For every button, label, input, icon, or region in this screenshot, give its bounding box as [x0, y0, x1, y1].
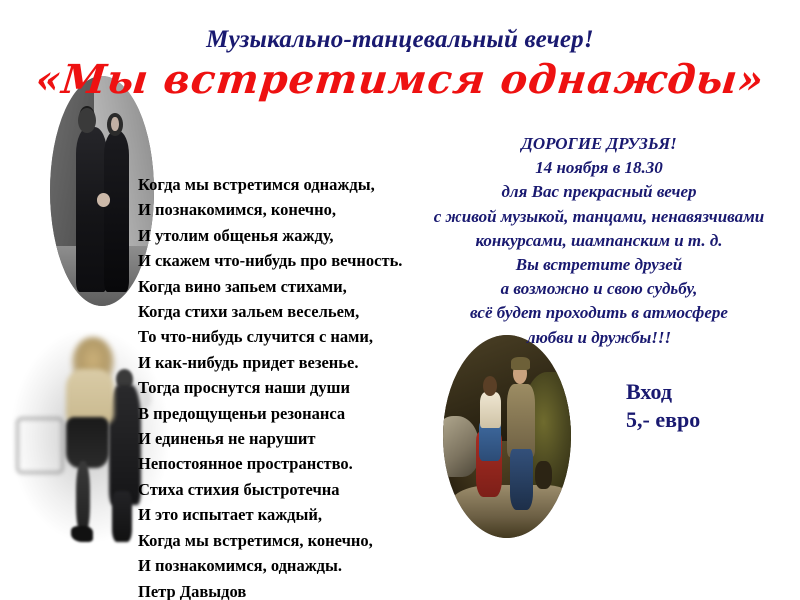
- poem-line: Когда мы встретимся, конечно,: [138, 528, 443, 553]
- painting-man-hat: [511, 357, 530, 369]
- invitation-line: а возможно и свою судьбу,: [398, 277, 800, 301]
- photo-couple-woman-face: [111, 117, 118, 131]
- invitation-line: для Вас прекрасный вечер: [398, 180, 800, 204]
- invitation-line: конкурсами, шампанским и т. д.: [398, 229, 800, 253]
- photo-couple-man-head: [78, 108, 96, 133]
- photo-dancing-woman-shoe: [71, 526, 93, 542]
- poster-title-script: «Мы встретимся однажды»: [0, 56, 800, 103]
- painting-woman-head: [483, 376, 497, 396]
- invitation-block: ДОРОГИЕ ДРУЗЬЯ! 14 ноября в 18.30 для Ва…: [398, 132, 800, 350]
- entrance-label: Вход: [626, 378, 700, 406]
- invitation-line: Вы встретите друзей: [398, 253, 800, 277]
- poster-title-main: Музыкально-танцевальный вечер!: [0, 26, 800, 54]
- entrance-price: 5,- евро: [626, 406, 700, 434]
- poem-line: И это испытает каждый,: [138, 502, 443, 527]
- poster-canvas: Музыкально-танцевальный вечер! «Мы встре…: [0, 0, 800, 600]
- invitation-line: с живой музыкой, танцами, ненавязчивами: [398, 205, 800, 229]
- painting-man-legs: [510, 449, 533, 510]
- poem-line: И единенья не нарушит: [138, 426, 443, 451]
- photo-couple-man-body: [76, 127, 107, 293]
- photo-dancing-woman-skirt: [66, 417, 109, 468]
- poem-line: Стиха стихия быстротечна: [138, 477, 443, 502]
- painting-woman-blouse: [480, 392, 500, 429]
- poem-line: Тогда проснутся наши души: [138, 375, 443, 400]
- invitation-line: любви и дружбы!!!: [398, 326, 800, 350]
- invitation-line: 14 ноября в 18.30: [398, 156, 800, 180]
- painting-rock: [443, 416, 479, 477]
- invitation-line: ДОРОГИЕ ДРУЗЬЯ!: [398, 132, 800, 156]
- painting-dog: [535, 461, 552, 489]
- poem-line: В предощущеньи резонанса: [138, 401, 443, 426]
- poem-line: И познакомимся, однажды.: [138, 553, 443, 578]
- photo-dancing-woman-top: [66, 369, 114, 424]
- poem-line: И как-нибудь придет везенье.: [138, 350, 443, 375]
- poem-author: Петр Давыдов: [138, 579, 443, 600]
- poem-line: Непостоянное пространство.: [138, 451, 443, 476]
- photo-dancing-woman-leg: [76, 461, 90, 535]
- painting-man-coat: [507, 384, 535, 457]
- photo-couple-woman-body: [104, 131, 129, 292]
- entrance-block: Вход 5,- евро: [626, 378, 700, 434]
- photo-dancing-chair: [16, 417, 64, 474]
- photo-dancing-man-leg: [112, 491, 131, 542]
- photo-painting-oval: [443, 335, 571, 538]
- invitation-line: всё будет проходить в атмосфере: [398, 301, 800, 325]
